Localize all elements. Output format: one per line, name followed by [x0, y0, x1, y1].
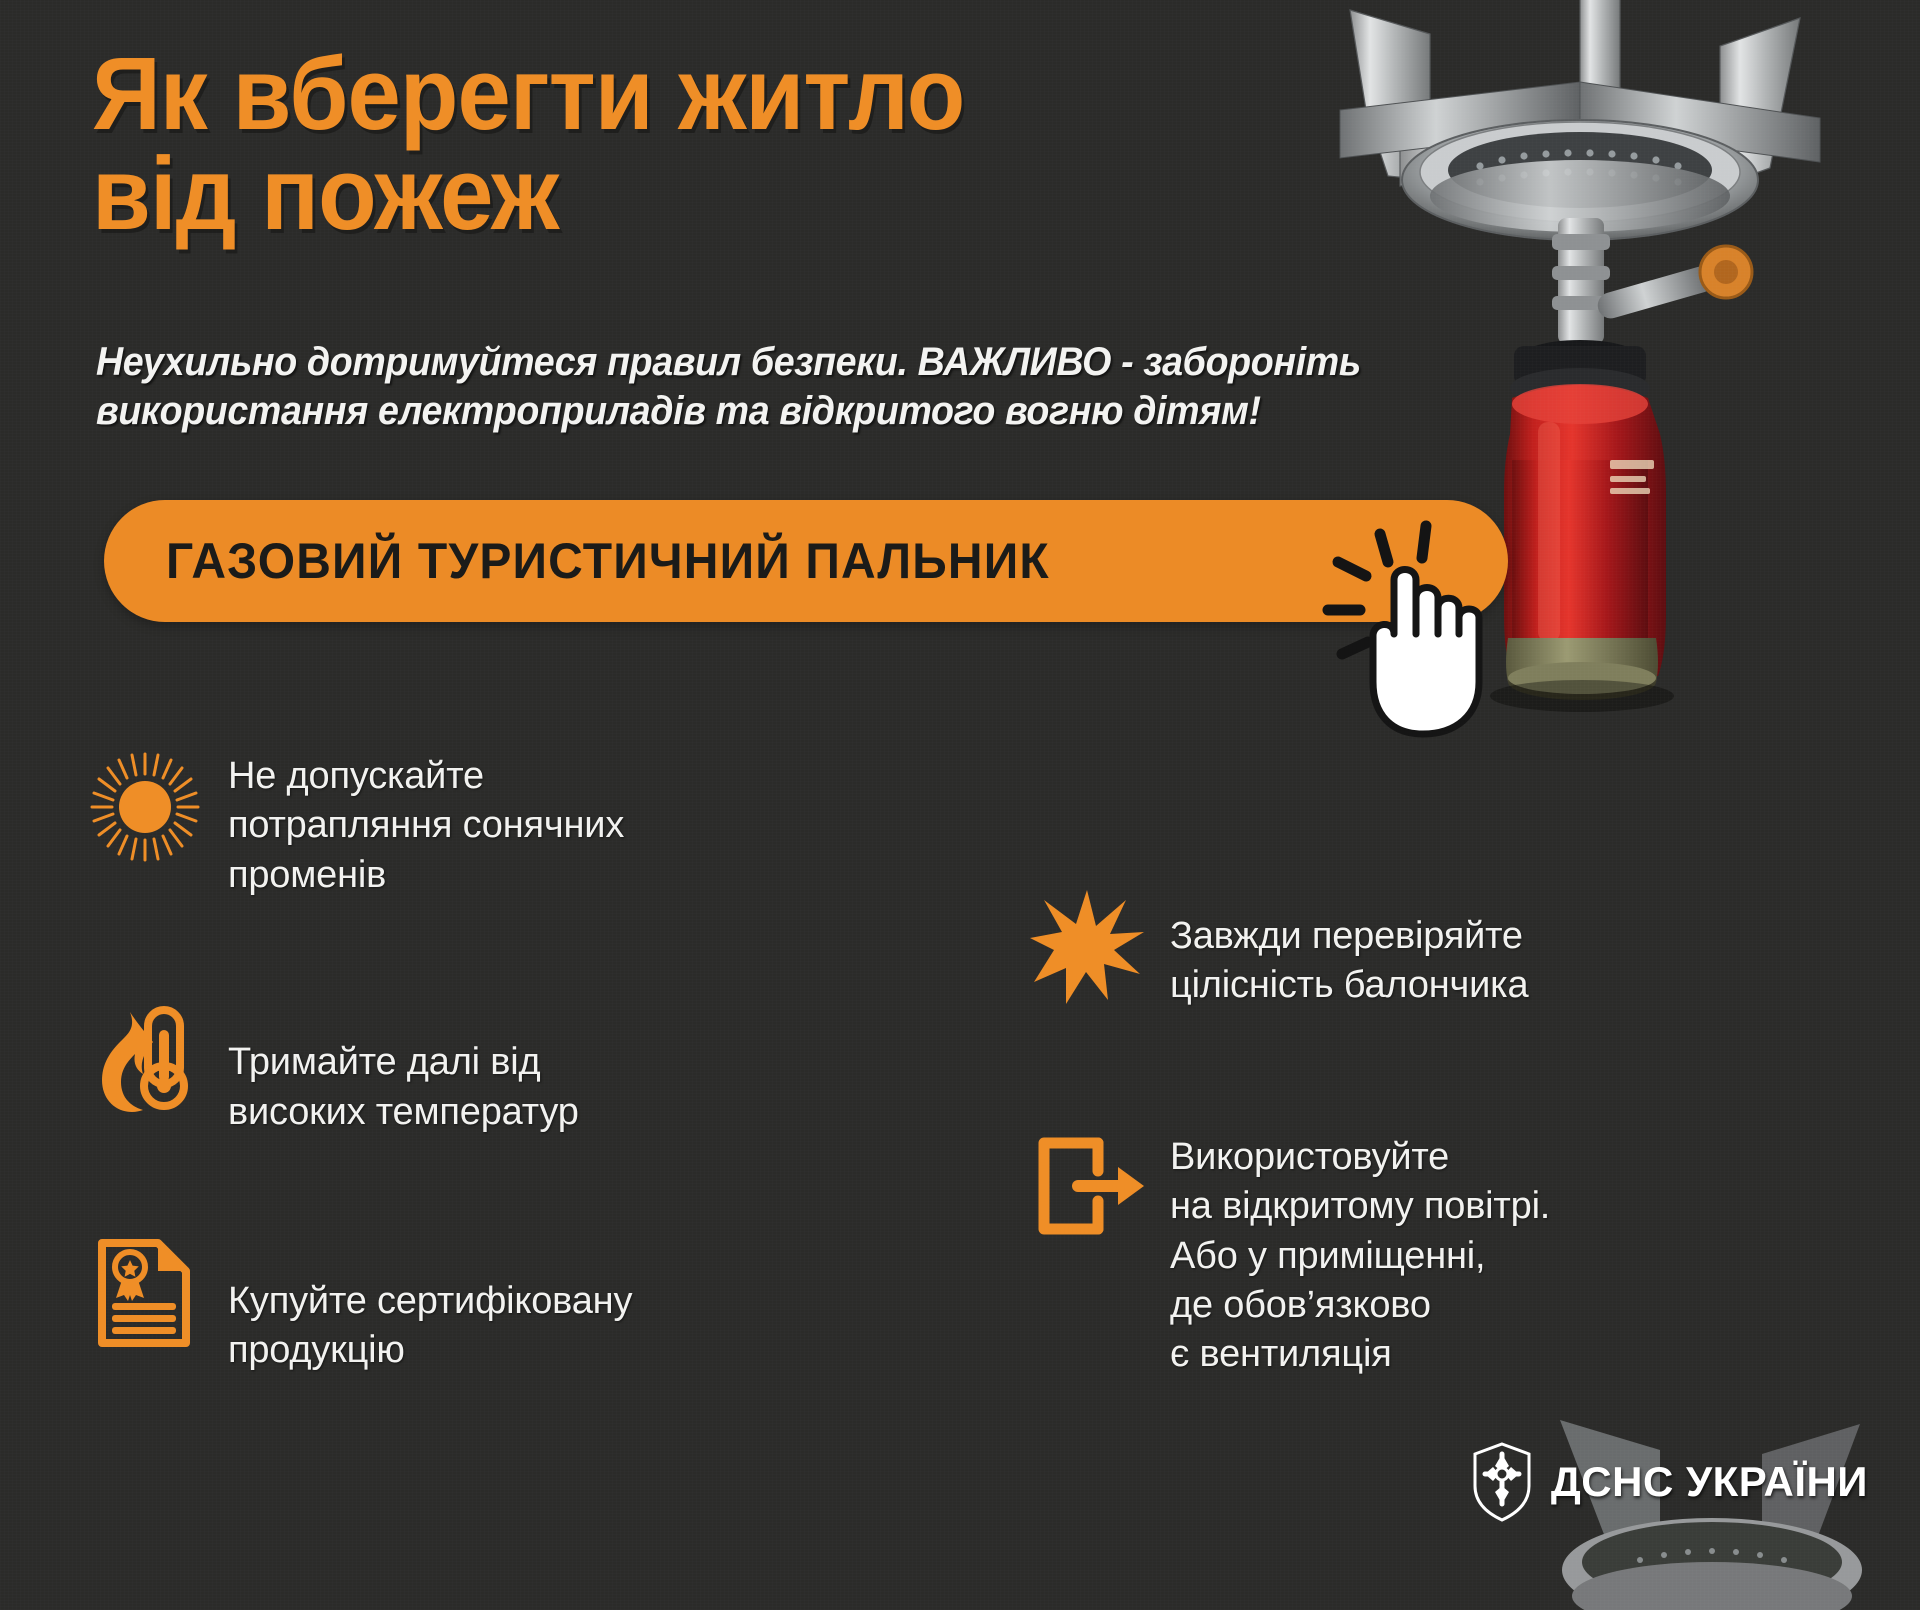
left-bullet-column: Не допускайте потрапляння сонячних проме… [86, 748, 806, 1376]
bullet-text-line: цілісність балончика [1170, 961, 1528, 1010]
dsns-footer-logo: ДСНС УКРАЇНИ [1469, 1442, 1868, 1522]
sun-icon [86, 748, 204, 866]
bullet-text-line: Або у приміщенні, [1170, 1232, 1550, 1281]
title-line-2: від пожеж [92, 144, 964, 244]
bullet-text-line: продукцію [228, 1326, 632, 1375]
bullet-text-line: променів [228, 851, 624, 900]
bullet-text-line: потрапляння сонячних [228, 801, 624, 850]
bullet-text-line: високих температур [228, 1088, 579, 1137]
bullet-text: Завжди перевіряйте цілісність балончика [1146, 888, 1528, 1011]
page-title: Як вберегти житло від пожеж [92, 44, 964, 244]
infographic-poster: Як вберегти житло від пожеж Неухильно до… [0, 0, 1920, 1610]
bullet-text: Не допускайте потрапляння сонячних проме… [204, 748, 624, 900]
bullet-text-line: Використовуйте [1170, 1133, 1550, 1182]
bullet-text-line: Купуйте сертифіковану [228, 1277, 632, 1326]
bullet-text-line: на відкритому повітрі. [1170, 1182, 1550, 1231]
bullet-text: Тримайте далі від високих температур [204, 996, 579, 1137]
bullet-text: Використовуйте на відкритому повітрі. Аб… [1146, 1127, 1550, 1380]
cta-label: ГАЗОВИЙ ТУРИСТИЧНИЙ ПАЛЬНИК [166, 532, 1050, 590]
bullet-item: Не допускайте потрапляння сонячних проме… [86, 748, 806, 900]
subtitle-line-1: Неухильно дотримуйтеся правил безпеки. В… [96, 338, 1318, 387]
exit-arrow-icon [1028, 1127, 1146, 1245]
bullet-text-line: є вентиляція [1170, 1330, 1550, 1379]
dsns-emblem-icon [1469, 1442, 1535, 1522]
bullet-text-line: Не допускайте [228, 752, 624, 801]
cta-banner[interactable]: ГАЗОВИЙ ТУРИСТИЧНИЙ ПАЛЬНИК [104, 500, 1508, 622]
bullet-item: Завжди перевіряйте цілісність балончика [1028, 888, 1648, 1011]
hand-pointer-icon [1322, 518, 1552, 738]
subtitle: Неухильно дотримуйтеся правил безпеки. В… [96, 338, 1318, 436]
title-line-1: Як вберегти житло [92, 44, 964, 144]
bullet-item: Використовуйте на відкритому повітрі. Аб… [1028, 1127, 1648, 1380]
bullet-text-line: де обов’язково [1170, 1281, 1550, 1330]
flame-thermometer-icon [86, 996, 204, 1114]
certificate-document-icon [86, 1233, 204, 1351]
bullet-item: Тримайте далі від високих температур [86, 996, 806, 1137]
burst-explosion-icon [1028, 888, 1146, 1006]
right-bullet-column: Завжди перевіряйте цілісність балончика … [1028, 888, 1648, 1380]
subtitle-line-2: використання електроприладів та відкрито… [96, 387, 1318, 436]
bullet-text-line: Тримайте далі від [228, 1038, 579, 1087]
bullet-text: Купуйте сертифіковану продукцію [204, 1233, 632, 1376]
dsns-organization-label: ДСНС УКРАЇНИ [1551, 1458, 1868, 1506]
bullet-item: Купуйте сертифіковану продукцію [86, 1233, 806, 1376]
bullet-text-line: Завжди перевіряйте [1170, 912, 1528, 961]
